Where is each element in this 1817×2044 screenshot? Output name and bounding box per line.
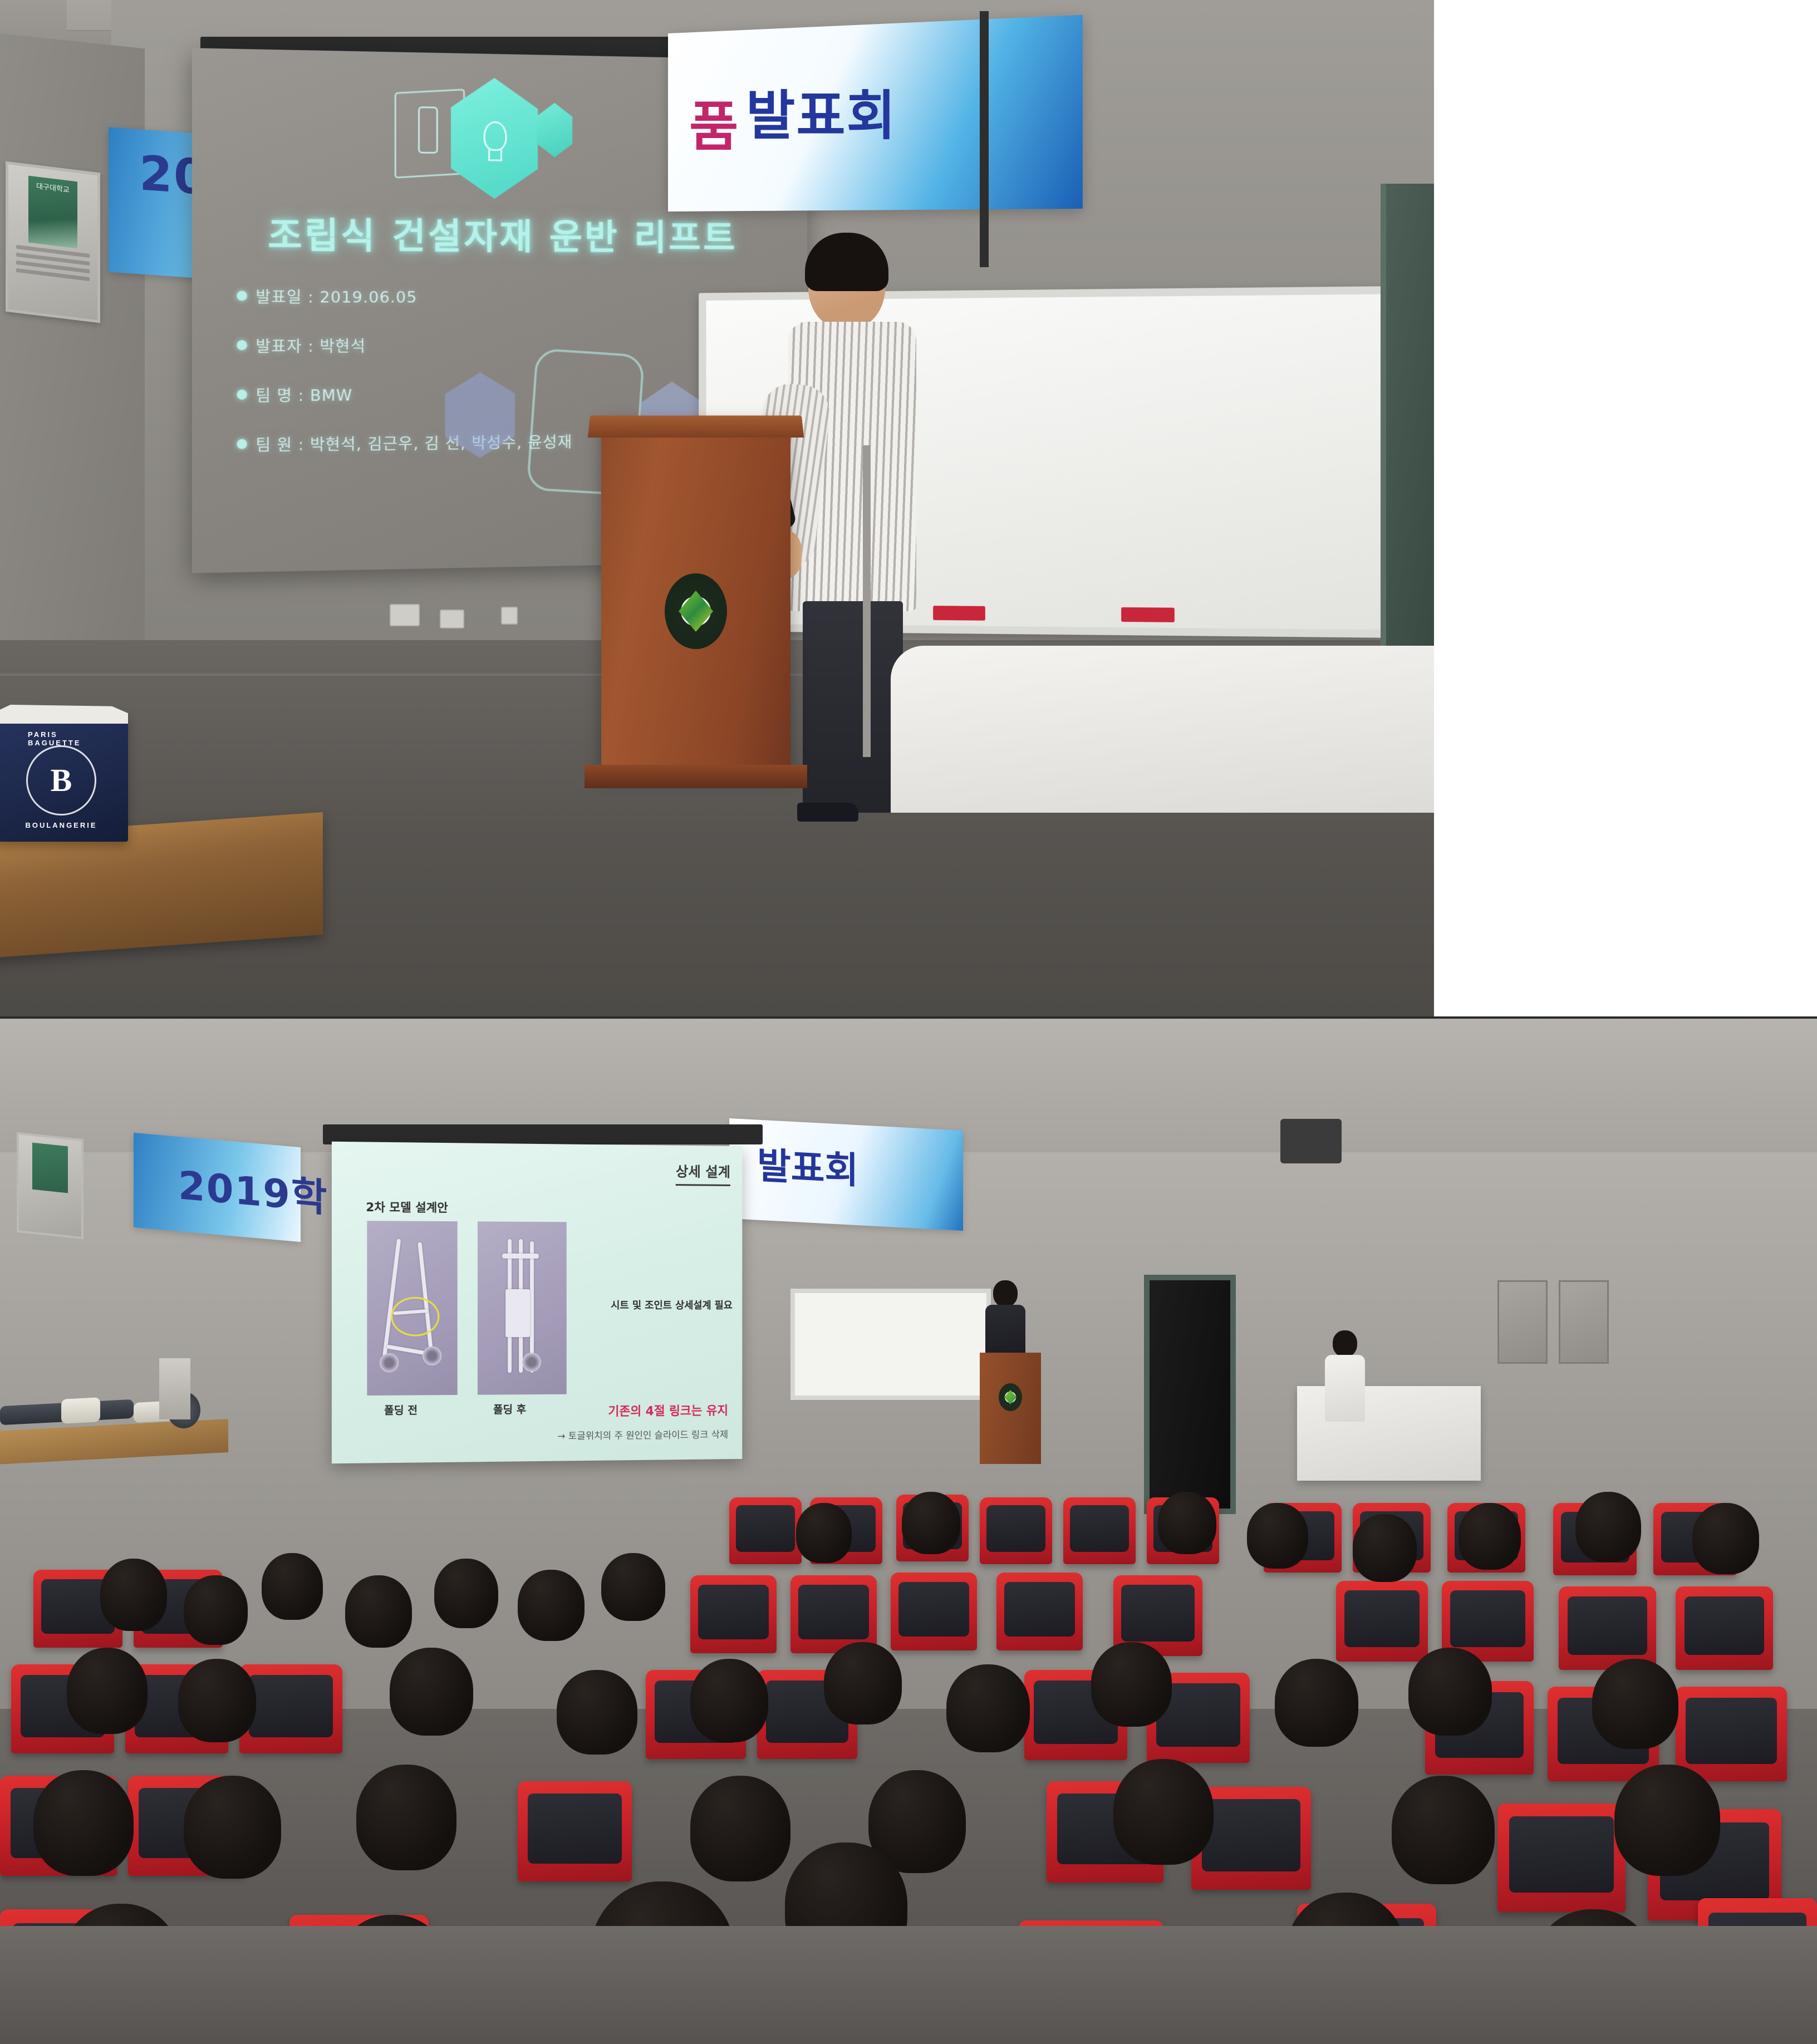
bag-brand-bottom: BOULANGERIE xyxy=(25,821,97,829)
seat[interactable] xyxy=(518,1781,632,1881)
audience-head xyxy=(796,1503,852,1563)
audience-head xyxy=(946,1664,1030,1752)
wall-outlet xyxy=(390,604,420,626)
banner-word-pink: 품 xyxy=(689,83,739,161)
audience-head xyxy=(1158,1492,1216,1554)
seat[interactable] xyxy=(1336,1581,1428,1662)
wall-notice-frame xyxy=(17,1132,84,1240)
audience-head xyxy=(184,1575,248,1645)
bullet-text: 발표자 : 박현석 xyxy=(256,333,366,356)
notice-graphic xyxy=(32,1143,68,1193)
seat-pad xyxy=(1121,1585,1194,1642)
paris-baguette-bag: PARIS BAGUETTE B BOULANGERIE xyxy=(0,714,128,842)
prototype-ladder-frame xyxy=(159,1358,190,1419)
banner-word-blue: 발표회 xyxy=(757,1136,858,1195)
whiteboard-eraser[interactable] xyxy=(1121,607,1175,622)
slide-note-right: 시트 및 조인트 상세설계 필요 xyxy=(569,1298,733,1312)
slide-image-folding-before xyxy=(367,1221,457,1396)
operator-body-white-shirt xyxy=(1325,1355,1365,1422)
bullet-dot-icon xyxy=(237,439,247,449)
seat[interactable] xyxy=(790,1575,877,1653)
bullet-dot-icon xyxy=(237,340,247,350)
bullet-text: 팀 명 : BMW xyxy=(256,382,352,406)
front-partition-wall xyxy=(891,646,1434,813)
seat-pad xyxy=(1685,1596,1765,1655)
bullet-text: 발표일 : 2019.06.05 xyxy=(256,284,417,307)
audience-head xyxy=(824,1642,902,1724)
audience-head xyxy=(1692,1503,1759,1574)
projector-screen-housing xyxy=(323,1124,763,1144)
seat-pad xyxy=(798,1585,869,1639)
audience-head xyxy=(262,1553,323,1620)
emblem-leaf xyxy=(1004,1390,1016,1404)
wheel-icon xyxy=(522,1353,541,1372)
audience-head xyxy=(1353,1514,1417,1582)
seat-pad xyxy=(1202,1799,1300,1871)
seat-pad xyxy=(1070,1505,1130,1552)
audience-head xyxy=(1614,1765,1720,1876)
banner-word-blue: 발표회 xyxy=(746,72,897,150)
list-item: 발표일 : 2019.06.05 xyxy=(237,284,573,307)
audience-head xyxy=(100,1559,167,1631)
projection-screen-detail-slide: 상세 설계 2차 모델 설계안 폴딩 전 xyxy=(332,1142,742,1463)
highlight-circle-annotation xyxy=(391,1297,439,1337)
lightbulb-icon xyxy=(483,121,507,151)
speaker-icon xyxy=(1280,1119,1342,1163)
seat[interactable] xyxy=(1676,1586,1773,1670)
seat-pad xyxy=(1568,1596,1648,1655)
whiteboard-stand xyxy=(863,445,871,757)
whiteboard-eraser[interactable] xyxy=(933,606,985,621)
notice-title: 대구대학교 xyxy=(28,176,77,196)
seat-pad xyxy=(249,1675,333,1737)
frame-rail xyxy=(382,1239,401,1356)
slide-title: 조립식 건설자재 운반 리프트 xyxy=(192,205,807,261)
seat[interactable] xyxy=(891,1573,977,1650)
seat[interactable] xyxy=(1063,1497,1136,1564)
screen-support-bar xyxy=(980,11,989,267)
audience-head xyxy=(557,1670,637,1755)
seat-pad xyxy=(1004,1582,1075,1637)
wall-notice-frame: 대구대학교 xyxy=(6,161,100,323)
seat-pad xyxy=(698,1585,769,1639)
audience-head xyxy=(1247,1503,1308,1569)
door[interactable] xyxy=(1381,184,1434,685)
screenshot-root: 대구대학교 2019 조립식 건설자재 운반 xyxy=(0,0,1817,2044)
audience-head xyxy=(356,1765,456,1870)
notice-graphic: 대구대학교 xyxy=(28,176,77,249)
list-item: 발표자 : 박현석 xyxy=(237,333,573,357)
audience-head xyxy=(690,1659,768,1742)
seat-panel xyxy=(505,1289,530,1337)
podium-base xyxy=(585,765,807,788)
left-wall xyxy=(0,33,145,661)
audience-head xyxy=(1392,1776,1495,1884)
audience-head xyxy=(434,1559,498,1628)
prototype-coupling xyxy=(61,1397,100,1424)
presenter-shoe xyxy=(797,803,858,822)
seat[interactable] xyxy=(1676,1687,1787,1781)
whiteboard xyxy=(790,1289,991,1400)
seat[interactable] xyxy=(996,1573,1083,1650)
presenter-legs xyxy=(803,601,903,813)
list-item: 팀 원 : 박현석, 김근우, 김 선, 박성수, 윤성재 xyxy=(237,430,573,455)
slide-highlight-red: 기존의 4절 링크는 유지 xyxy=(608,1401,728,1419)
seat[interactable] xyxy=(1559,1586,1656,1670)
bullet-dot-icon xyxy=(237,291,247,301)
lightbulb-base xyxy=(488,150,502,161)
wall-panel xyxy=(1559,1280,1609,1364)
audience-head xyxy=(67,1648,148,1734)
audience-head xyxy=(902,1492,960,1554)
seat-pad xyxy=(1686,1698,1777,1764)
audience-head xyxy=(1275,1659,1358,1747)
audience-head xyxy=(1113,1759,1214,1865)
audience-head xyxy=(345,1575,412,1648)
bag-brand-top: PARIS BAGUETTE xyxy=(28,730,95,747)
audience-head xyxy=(1592,1659,1678,1749)
seat-pad xyxy=(1344,1590,1420,1647)
seat[interactable] xyxy=(729,1497,802,1564)
slide-header: 상세 설계 xyxy=(676,1161,730,1186)
list-item: 팀 명 : BMW xyxy=(237,381,573,406)
floor xyxy=(0,1926,1817,2044)
audience-head xyxy=(1091,1642,1172,1727)
wheel-icon xyxy=(423,1347,441,1365)
bag-flap xyxy=(0,705,128,724)
bag-monogram: B xyxy=(26,745,96,815)
smartphone-icon xyxy=(418,106,438,154)
seat[interactable] xyxy=(690,1575,777,1653)
wall-outlet xyxy=(501,607,518,625)
door[interactable] xyxy=(1144,1275,1236,1514)
slide-caption-right: 폴딩 후 xyxy=(493,1401,526,1417)
presenter-hair xyxy=(805,233,888,291)
slide-subtitle: 2차 모델 설계안 xyxy=(366,1198,448,1216)
university-emblem-icon xyxy=(999,1383,1022,1411)
slide-caption-left: 폴딩 전 xyxy=(384,1402,418,1418)
university-emblem-icon xyxy=(665,573,727,649)
hexagon-filled-small xyxy=(537,102,572,158)
seat-pad xyxy=(898,1582,969,1637)
podium-top-surface xyxy=(588,415,804,438)
presenter-head xyxy=(993,1280,1018,1307)
bullet-dot-icon xyxy=(237,390,247,400)
emblem-leaf xyxy=(679,591,713,632)
av-operator-figure xyxy=(1325,1330,1365,1422)
audience-head xyxy=(690,1776,790,1881)
photo-presentation-closeup: 대구대학교 2019 조립식 건설자재 운반 xyxy=(0,0,1434,1019)
photo-top-right-margin xyxy=(1434,0,1817,1019)
audience-head xyxy=(33,1770,134,1876)
audience-head xyxy=(1575,1492,1641,1562)
podium xyxy=(980,1353,1041,1464)
slide-sub-note: → 토글위치의 주 원인인 슬라이드 링크 삭제 xyxy=(557,1427,728,1442)
audience-head xyxy=(1408,1648,1492,1736)
frame-joint xyxy=(502,1254,539,1259)
seat-pad xyxy=(736,1505,795,1552)
seat[interactable] xyxy=(1497,1804,1626,1912)
wall-outlet xyxy=(440,610,464,628)
seat-pad xyxy=(1509,1816,1614,1893)
podium xyxy=(601,417,790,774)
slide-bullet-list: 발표일 : 2019.06.05 발표자 : 박현석 팀 명 : BMW 팀 원… xyxy=(237,284,573,482)
audience-head xyxy=(1458,1503,1521,1570)
wall-panel xyxy=(1497,1280,1548,1364)
seat-pad xyxy=(1450,1590,1525,1647)
audience-head xyxy=(184,1776,281,1879)
audience-head xyxy=(601,1553,665,1621)
lift-frame-sketch xyxy=(376,1239,449,1378)
lift-frame-folded-sketch xyxy=(487,1239,558,1378)
seat[interactable] xyxy=(980,1497,1052,1564)
seat-pad xyxy=(528,1794,621,1864)
audience-head xyxy=(518,1570,585,1641)
audience-head xyxy=(390,1648,473,1736)
wheel-icon xyxy=(380,1353,399,1373)
bullet-text: 팀 원 : 박현석, 김근우, 김 선, 박성수, 윤성재 xyxy=(256,430,572,455)
hexagon-lightbulb-graphic xyxy=(394,73,569,212)
audience-head xyxy=(178,1659,256,1742)
operator-head xyxy=(1333,1330,1357,1357)
slide-image-folding-after xyxy=(478,1221,567,1394)
seat-pad xyxy=(986,1505,1046,1552)
